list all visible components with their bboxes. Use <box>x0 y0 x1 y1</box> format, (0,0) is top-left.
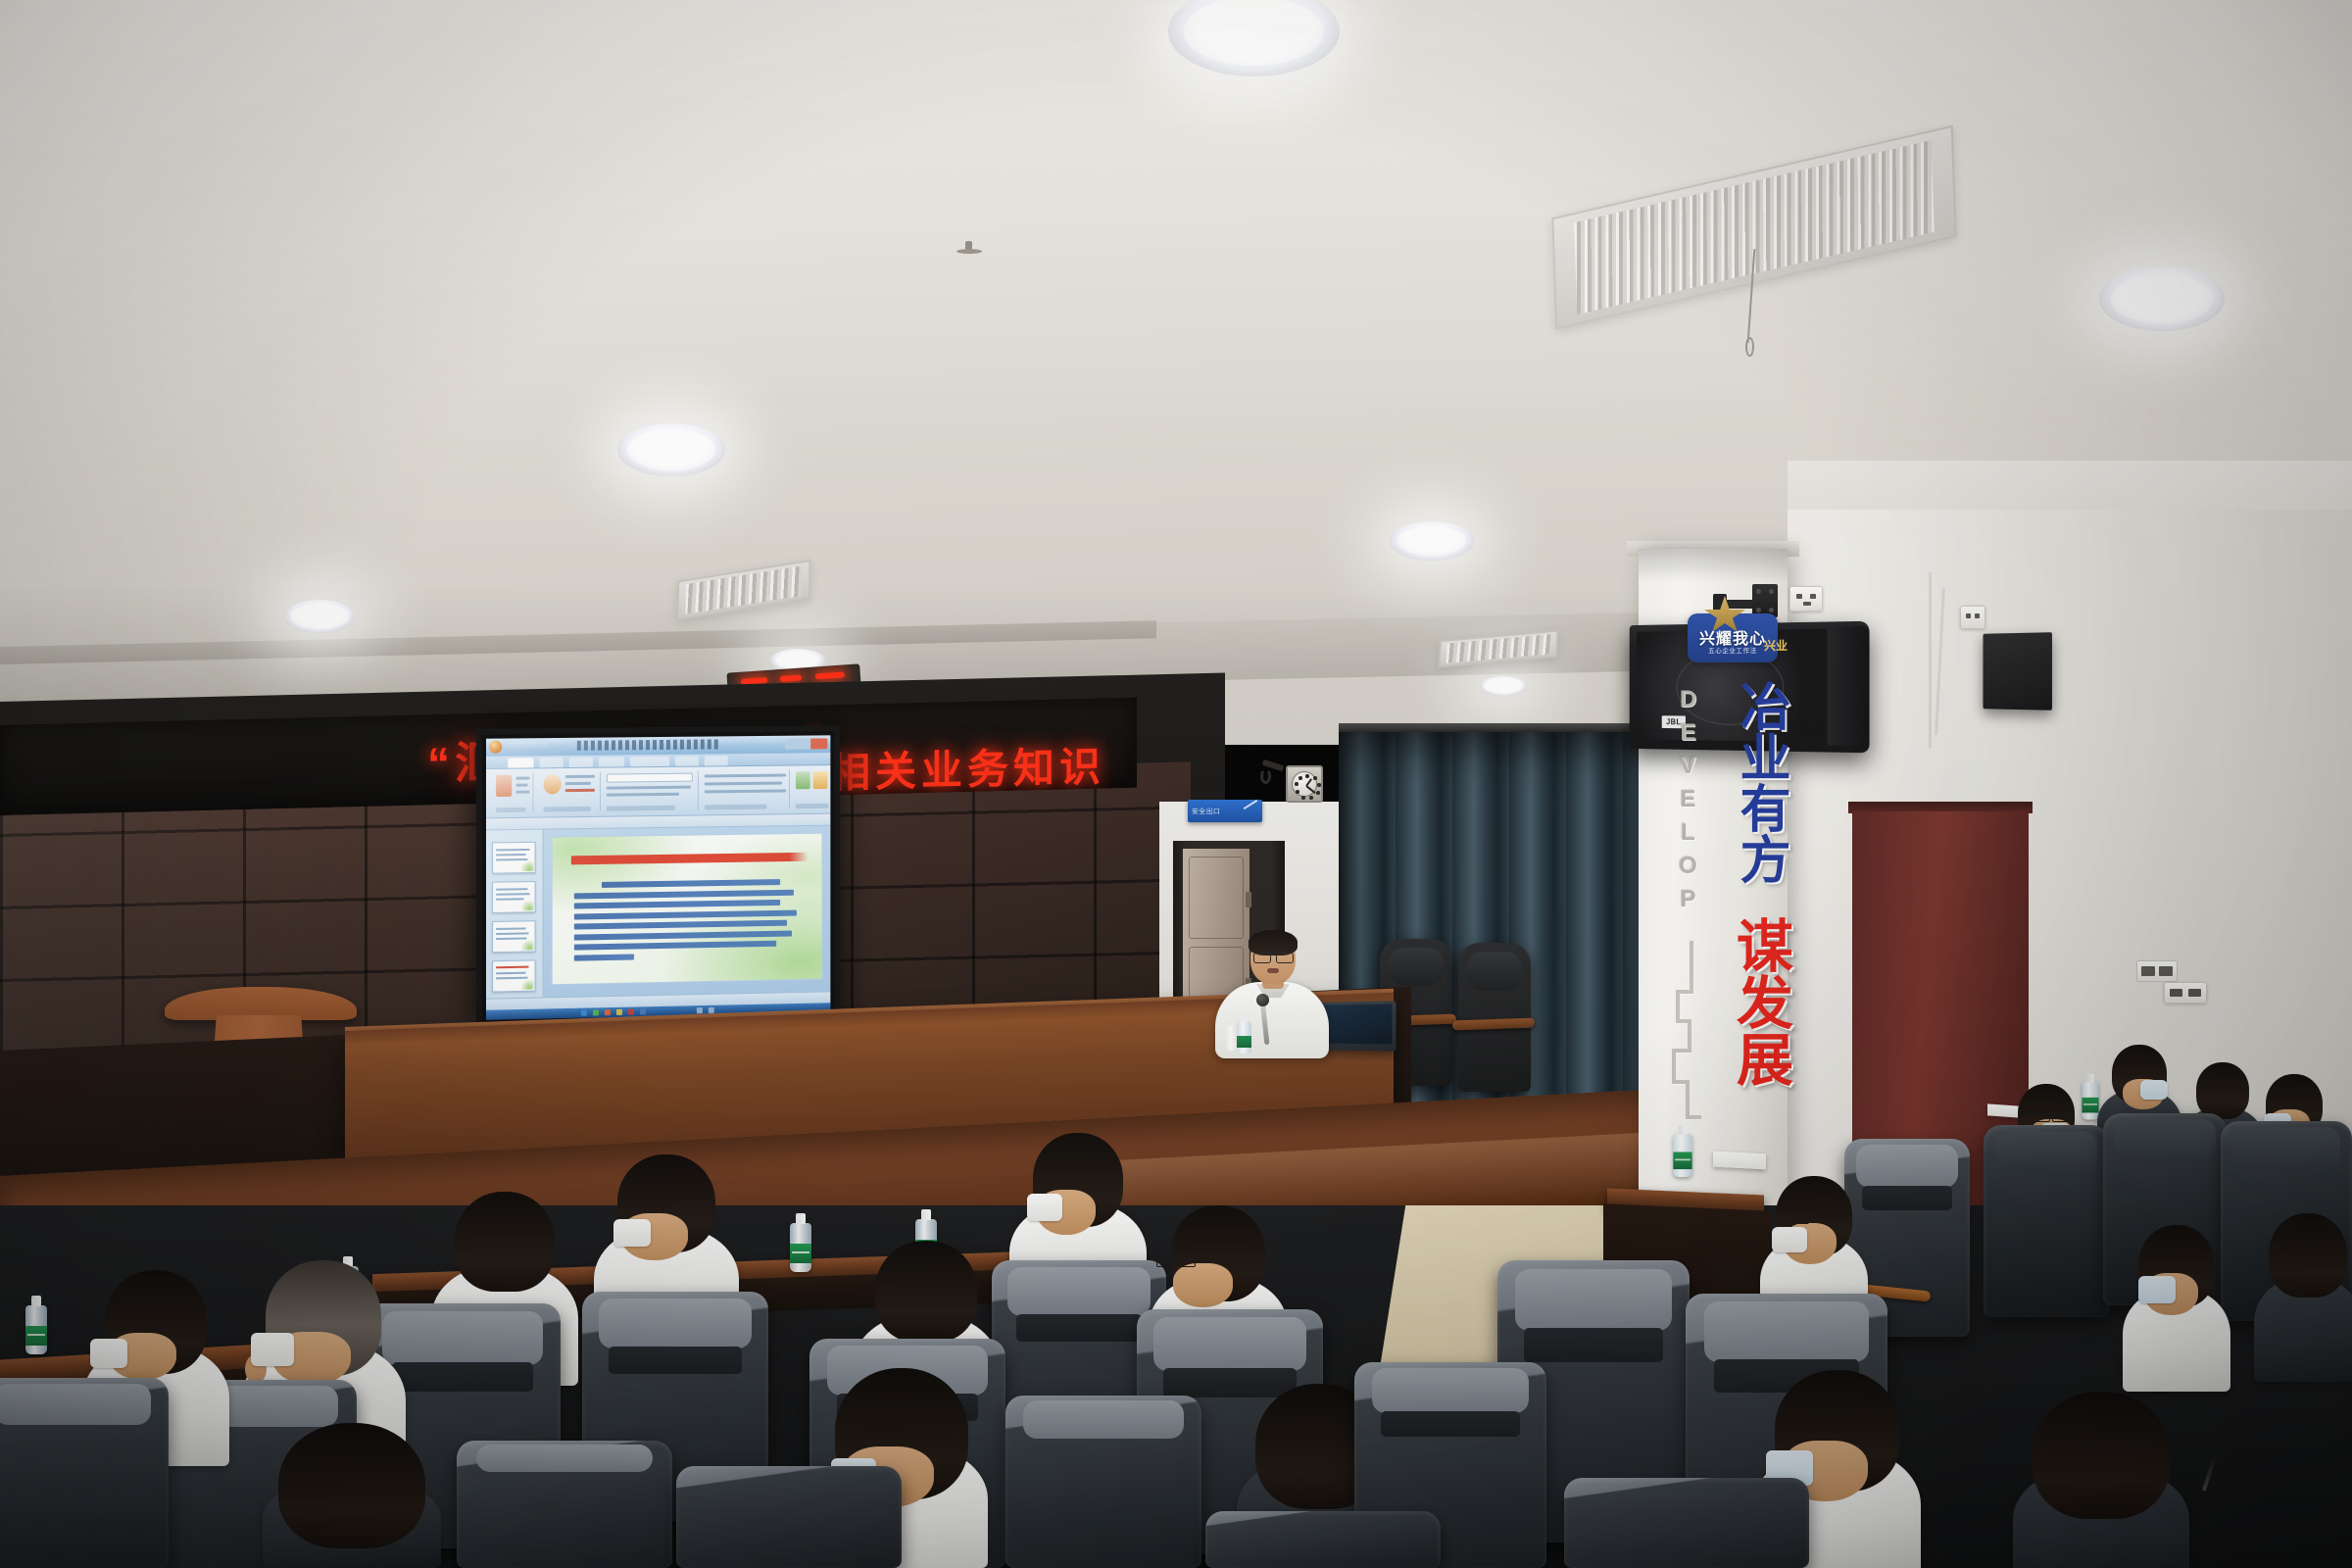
audience-member <box>2123 1225 2230 1392</box>
wall-switch-plate[interactable] <box>2136 960 2178 982</box>
slide-body-text <box>574 879 804 965</box>
quick-access-toolbar <box>506 742 547 751</box>
audience-member <box>2013 1392 2189 1568</box>
theater-seat[interactable] <box>1984 1125 2109 1317</box>
window-controls <box>785 738 827 749</box>
slide-title-text <box>571 853 808 865</box>
power-outlet[interactable] <box>1789 586 1823 612</box>
vent-pull-loop <box>1745 337 1754 357</box>
microphone-icon <box>1256 994 1269 1006</box>
theater-seat[interactable] <box>1564 1478 1809 1568</box>
face-mask <box>1772 1227 1807 1252</box>
ceiling-downlight-icon <box>284 600 355 633</box>
clock-face <box>1292 771 1317 797</box>
office-orb-icon <box>489 741 502 754</box>
exit-arrow-icon <box>1244 800 1258 809</box>
projected-powerpoint <box>486 735 830 1020</box>
electrical-conduit <box>1929 572 1932 749</box>
theater-seat[interactable] <box>0 1378 169 1568</box>
slide-thumbnail[interactable] <box>492 842 535 874</box>
stage-armchair[interactable] <box>1458 943 1531 1092</box>
company-logo-badge: 兴耀我心 五心企业工作法 兴业 <box>1682 596 1784 670</box>
banner-slogan-blue: 冶业有方 <box>1721 680 1786 884</box>
clock-bracket-hook <box>1260 768 1271 784</box>
pillar-top-shading <box>1639 549 1788 582</box>
power-outlet[interactable] <box>2164 982 2207 1004</box>
door-panel-upper <box>1189 857 1244 939</box>
ceiling-downlight-icon <box>1390 521 1474 561</box>
slide-thumbnail[interactable] <box>492 959 535 992</box>
ceiling-downlight-icon <box>617 423 725 476</box>
face-mask <box>1027 1194 1062 1221</box>
ppt-ribbon <box>486 765 830 818</box>
ceiling-downlight-icon <box>1480 676 1527 696</box>
slide-thumbnail[interactable] <box>492 881 535 913</box>
ppt-document-title <box>577 739 720 750</box>
logo-side-text: 兴业 <box>1764 637 1788 654</box>
loudspeaker-secondary <box>1983 632 2051 710</box>
banner-develop-text: DEVELOP <box>1672 686 1701 931</box>
exit-sign: 安全出口 <box>1188 800 1262 822</box>
water-bottle <box>1237 1021 1251 1053</box>
theater-seat[interactable] <box>1005 1396 1201 1568</box>
theater-seat[interactable] <box>1205 1511 1441 1568</box>
water-bottle <box>1673 1134 1691 1177</box>
audience-member <box>263 1423 441 1568</box>
water-bottle <box>25 1305 47 1354</box>
presenter-glasses-icon <box>1253 953 1294 961</box>
slide-thumbnail[interactable] <box>492 920 535 953</box>
handout-paper <box>1713 1151 1766 1170</box>
exit-sign-text: 安全出口 <box>1188 807 1220 816</box>
face-mask <box>251 1333 294 1366</box>
presenter-mouth <box>1267 968 1279 973</box>
presenter-laptop <box>1321 1001 1396 1051</box>
projection-screen <box>476 725 840 1030</box>
fire-sprinkler-icon <box>956 241 982 257</box>
ceiling-downlight-icon <box>2099 267 2225 331</box>
power-outlet[interactable] <box>1960 606 1985 629</box>
water-bottle <box>790 1223 811 1272</box>
speaker-side-panel <box>1827 626 1869 746</box>
face-mask <box>2140 1080 2168 1100</box>
active-slide <box>552 833 823 986</box>
conference-hall-photo: “汇 相关业务知识 <box>0 0 2352 1568</box>
curtain-rod <box>1339 723 1652 732</box>
face-mask <box>90 1339 127 1368</box>
wall-clock-icon <box>1286 765 1323 803</box>
slide-thumbnail-pane[interactable] <box>486 830 544 999</box>
banner-slogan-red: 谋发展 <box>1717 916 1788 1087</box>
face-mask <box>613 1219 651 1247</box>
audience-member <box>2254 1213 2352 1382</box>
theater-seat[interactable] <box>457 1441 672 1568</box>
theater-seat[interactable] <box>676 1466 902 1568</box>
face-mask <box>2138 1276 2176 1303</box>
